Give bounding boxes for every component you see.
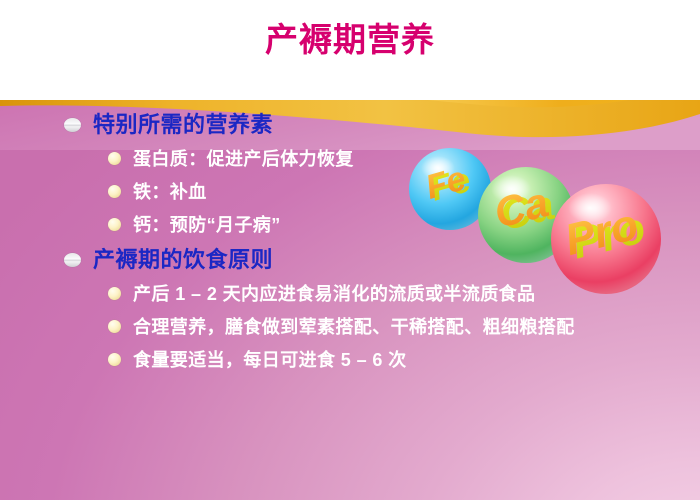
- slide-content: 特别所需的营养素 蛋白质：促进产后体力恢复 铁：补血 钙：预防“月子病” 产褥期…: [0, 110, 700, 380]
- round-bullet-icon: [108, 218, 121, 231]
- round-bullet-icon: [108, 320, 121, 333]
- round-bullet-icon: [108, 287, 121, 300]
- list-item-label: 蛋白质：促进产后体力恢复: [133, 150, 354, 168]
- presentation-slide: 产褥期营养: [0, 0, 700, 500]
- section-heading-2-label: 产褥期的饮食原则: [93, 249, 273, 271]
- content-group-1: 特别所需的营养素 蛋白质：促进产后体力恢复 铁：补血 钙：预防“月子病”: [0, 110, 700, 241]
- list-item: 食量要适当，每日可进食 5 – 6 次: [0, 343, 700, 376]
- list-item-label: 铁：补血: [133, 183, 207, 201]
- list-item-label: 食量要适当，每日可进食 5 – 6 次: [133, 351, 407, 369]
- round-bullet-icon: [108, 353, 121, 366]
- list-item: 钙：预防“月子病”: [0, 208, 700, 241]
- page-title: 产褥期营养: [0, 22, 700, 58]
- section-heading-2: 产褥期的饮食原则: [0, 245, 700, 275]
- oval-bullet-icon: [64, 118, 81, 132]
- list-item-label: 合理营养，膳食做到荤素搭配、干稀搭配、粗细粮搭配: [133, 318, 575, 336]
- list-item-label: 产后 1 – 2 天内应进食易消化的流质或半流质食品: [133, 285, 535, 303]
- list-item: 蛋白质：促进产后体力恢复: [0, 142, 700, 175]
- content-group-2: 产褥期的饮食原则 产后 1 – 2 天内应进食易消化的流质或半流质食品 合理营养…: [0, 245, 700, 376]
- list-item-label: 钙：预防“月子病”: [133, 216, 281, 234]
- list-item: 铁：补血: [0, 175, 700, 208]
- list-item: 合理营养，膳食做到荤素搭配、干稀搭配、粗细粮搭配: [0, 310, 700, 343]
- section-heading-1-label: 特别所需的营养素: [93, 114, 273, 136]
- round-bullet-icon: [108, 152, 121, 165]
- oval-bullet-icon: [64, 253, 81, 267]
- list-item: 产后 1 – 2 天内应进食易消化的流质或半流质食品: [0, 277, 700, 310]
- section-heading-1: 特别所需的营养素: [0, 110, 700, 140]
- round-bullet-icon: [108, 185, 121, 198]
